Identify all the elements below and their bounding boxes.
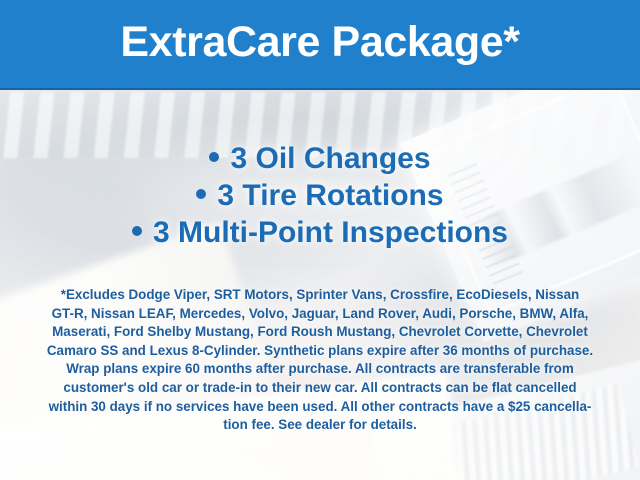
disclaimer-line: GT-R, Nissan LEAF, Mercedes, Volvo, Jagu… — [24, 305, 616, 324]
disclaimer-line: Wrap plans expire 60 months after purcha… — [24, 360, 616, 379]
disclaimer-line: *Excludes Dodge Viper, SRT Motors, Sprin… — [24, 286, 616, 305]
disclaimer-line: within 30 days if no services have been … — [24, 398, 616, 417]
benefit-label: 3 Multi-Point Inspections — [153, 216, 508, 249]
disclaimer-line: Maserati, Ford Shelby Mustang, Ford Rous… — [24, 323, 616, 342]
disclaimer-line: tion fee. See dealer for details. — [24, 416, 616, 435]
list-item: 3 Tire Rotations — [0, 177, 640, 214]
benefits-list: 3 Oil Changes 3 Tire Rotations 3 Multi-P… — [0, 140, 640, 251]
disclaimer-text: *Excludes Dodge Viper, SRT Motors, Sprin… — [24, 286, 616, 435]
header-divider — [0, 88, 640, 90]
list-item: 3 Oil Changes — [0, 140, 640, 177]
bullet-dot-icon — [196, 189, 206, 199]
list-item: 3 Multi-Point Inspections — [0, 214, 640, 251]
disclaimer-line: customer's old car or trade-in to their … — [24, 379, 616, 398]
bullet-dot-icon — [132, 226, 142, 236]
bullet-dot-icon — [209, 152, 219, 162]
benefit-label: 3 Oil Changes — [230, 142, 430, 175]
disclaimer-line: Camaro SS and Lexus 8-Cylinder. Syntheti… — [24, 342, 616, 361]
page-title: ExtraCare Package* — [0, 0, 640, 88]
extracare-package-promo: ExtraCare Package* 3 Oil Changes 3 Tire … — [0, 0, 640, 480]
benefit-label: 3 Tire Rotations — [217, 179, 443, 212]
